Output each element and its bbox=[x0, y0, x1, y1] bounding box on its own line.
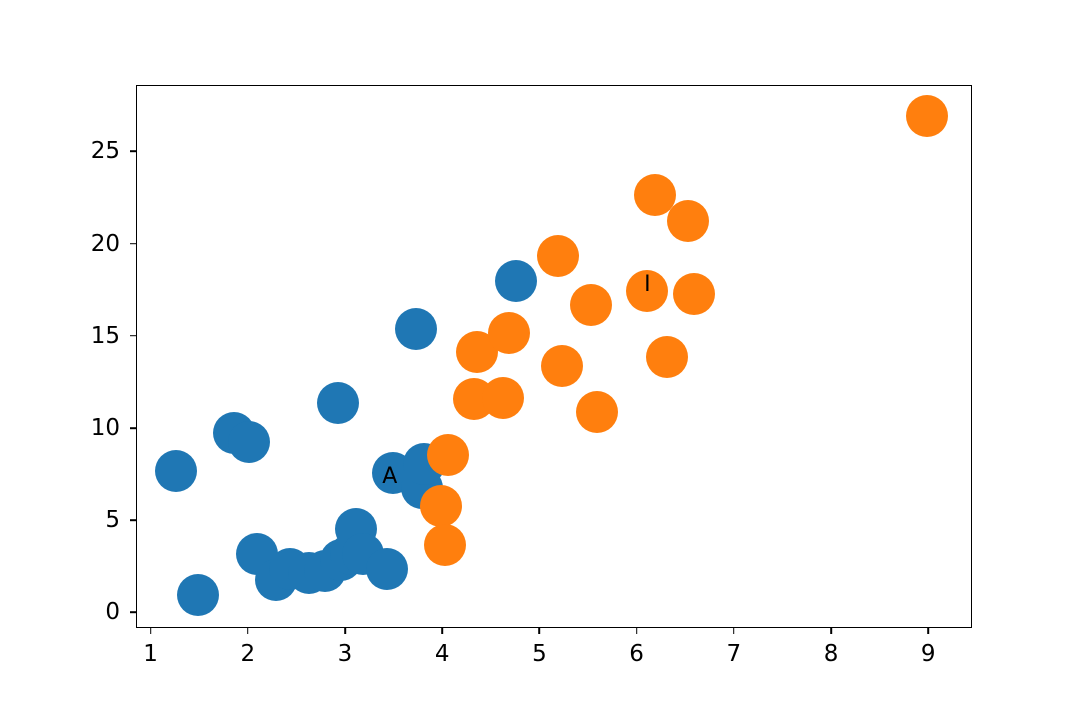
x-axis-tick-label: 7 bbox=[727, 641, 742, 667]
y-axis-tick-label: 10 bbox=[91, 415, 120, 441]
y-axis-tick-label: 5 bbox=[105, 507, 120, 533]
x-axis-tick bbox=[539, 628, 541, 634]
x-axis-tick bbox=[830, 628, 832, 634]
x-axis-tick bbox=[150, 628, 152, 634]
y-axis-tick-label: 20 bbox=[91, 231, 120, 257]
scatter-point[interactable] bbox=[420, 485, 462, 527]
y-axis-tick-label: 0 bbox=[105, 599, 120, 625]
scatter-point[interactable] bbox=[667, 200, 709, 242]
scatter-point[interactable] bbox=[395, 308, 437, 350]
scatter-point[interactable] bbox=[366, 548, 408, 590]
scatter-point[interactable] bbox=[576, 391, 618, 433]
x-axis-tick bbox=[636, 628, 638, 634]
y-axis-tick bbox=[130, 519, 136, 521]
x-axis-tick-label: 1 bbox=[143, 641, 158, 667]
scatter-point[interactable] bbox=[228, 421, 270, 463]
plot-axes-frame: AI bbox=[136, 85, 972, 628]
scatter-point[interactable] bbox=[424, 524, 466, 566]
scatter-point[interactable] bbox=[495, 260, 537, 302]
scatter-point[interactable] bbox=[488, 312, 530, 354]
x-axis-tick bbox=[441, 628, 443, 634]
x-axis-tick-label: 8 bbox=[824, 641, 839, 667]
x-axis-tick-label: 3 bbox=[338, 641, 353, 667]
scatter-point[interactable] bbox=[155, 450, 197, 492]
scatter-plot-figure: AI 1234567890510152025 bbox=[0, 0, 1080, 720]
x-axis-tick bbox=[733, 628, 735, 634]
scatter-point[interactable] bbox=[626, 270, 668, 312]
y-axis-tick bbox=[130, 151, 136, 153]
scatter-point[interactable] bbox=[537, 235, 579, 277]
y-axis-tick-label: 15 bbox=[91, 323, 120, 349]
scatter-point[interactable] bbox=[177, 574, 219, 616]
x-axis-tick-label: 6 bbox=[629, 641, 644, 667]
x-axis-tick-label: 9 bbox=[921, 641, 936, 667]
y-axis-tick-label: 25 bbox=[91, 138, 120, 164]
scatter-point[interactable] bbox=[646, 336, 688, 378]
scatter-point[interactable] bbox=[673, 273, 715, 315]
x-axis-tick bbox=[344, 628, 346, 634]
x-axis-tick-label: 4 bbox=[435, 641, 450, 667]
x-axis-tick-label: 5 bbox=[532, 641, 547, 667]
y-axis-tick bbox=[130, 427, 136, 429]
scatter-point[interactable] bbox=[570, 284, 612, 326]
x-axis-tick bbox=[247, 628, 249, 634]
x-axis-tick bbox=[927, 628, 929, 634]
scatter-point[interactable] bbox=[317, 382, 359, 424]
scatter-point[interactable] bbox=[906, 95, 948, 137]
x-axis-tick-label: 2 bbox=[240, 641, 255, 667]
y-axis-tick bbox=[130, 612, 136, 614]
scatter-point[interactable] bbox=[482, 377, 524, 419]
plot-data-area[interactable]: AI bbox=[137, 86, 971, 627]
y-axis-tick bbox=[130, 335, 136, 337]
y-axis-tick bbox=[130, 243, 136, 245]
scatter-point[interactable] bbox=[427, 434, 469, 476]
scatter-point[interactable] bbox=[541, 345, 583, 387]
